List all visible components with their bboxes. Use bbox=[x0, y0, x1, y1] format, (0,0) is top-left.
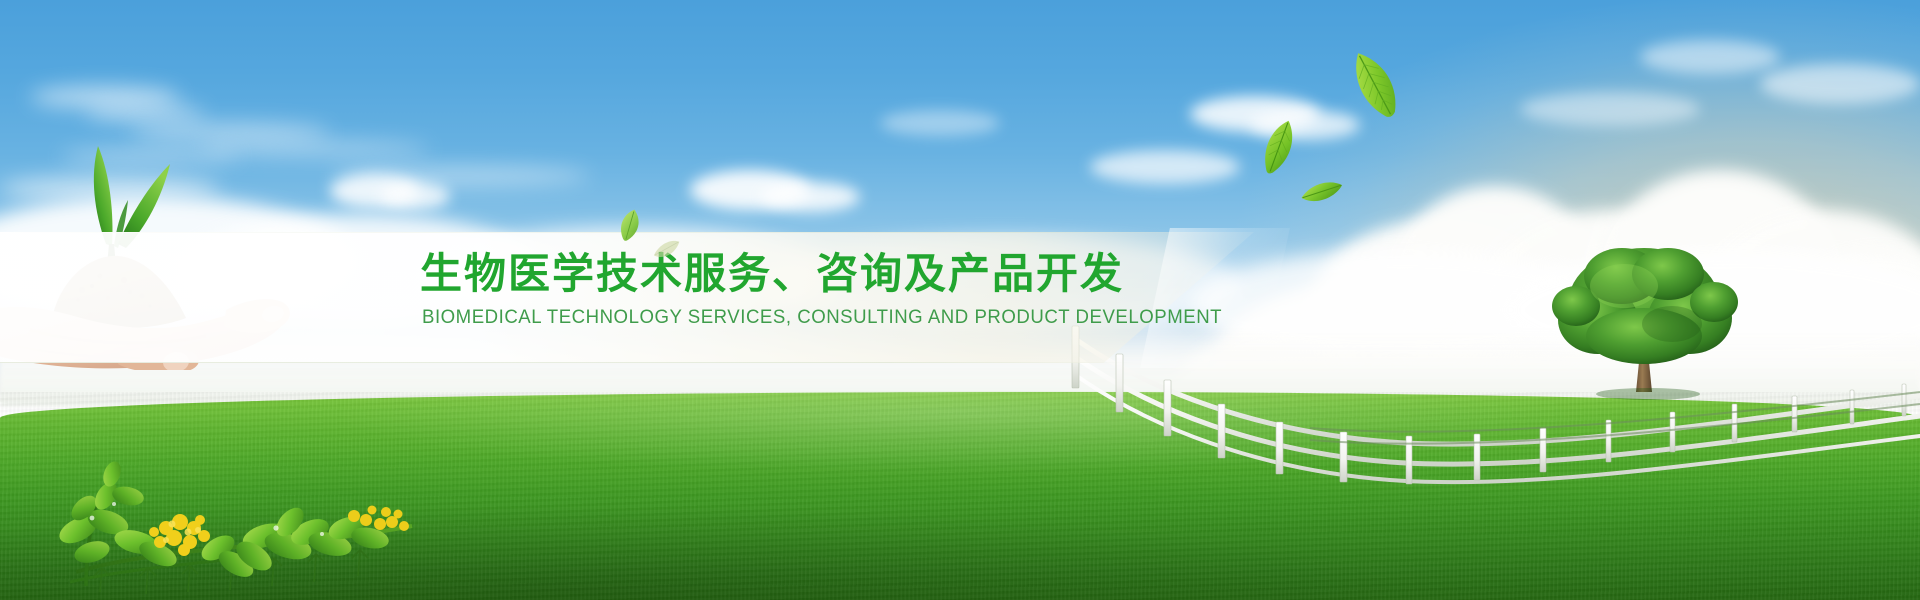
page-title: 生物医学技术服务、咨询及产品开发 bbox=[420, 248, 1200, 300]
cloud-small-2 bbox=[380, 182, 450, 210]
cloud-small-8 bbox=[1640, 40, 1780, 74]
page-subtitle: BIOMEDICAL TECHNOLOGY SERVICES, CONSULTI… bbox=[422, 306, 1165, 328]
cloud-small-9 bbox=[1760, 64, 1920, 104]
hero-banner: 生物医学技术服务、咨询及产品开发 BIOMEDICAL TECHNOLOGY S… bbox=[0, 0, 1920, 600]
cloud-small-4 bbox=[760, 182, 860, 212]
cloud-small-11 bbox=[880, 110, 1000, 136]
cloud-wisp-2 bbox=[85, 104, 205, 122]
text-band-bottom-edge bbox=[0, 362, 1140, 363]
headline-block: 生物医学技术服务、咨询及产品开发 BIOMEDICAL TECHNOLOGY S… bbox=[420, 248, 1200, 328]
cloud-small-10 bbox=[1520, 92, 1700, 126]
text-band-top-edge bbox=[0, 232, 1215, 233]
cloud-wisp-3 bbox=[130, 122, 330, 142]
foreground-plants bbox=[40, 452, 420, 600]
